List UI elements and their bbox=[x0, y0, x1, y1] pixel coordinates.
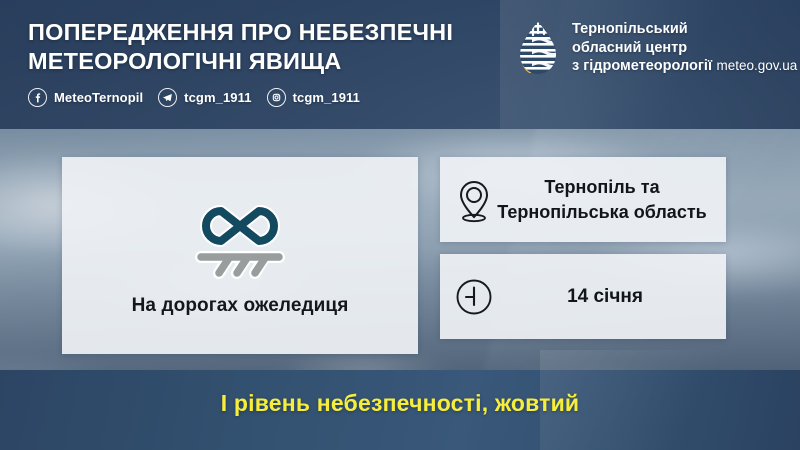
telegram-icon bbox=[158, 88, 177, 107]
date-card: 14 січня bbox=[440, 254, 726, 339]
brand-website: meteo.gov.ua bbox=[716, 58, 797, 73]
social-handle-facebook: MeteoTernopil bbox=[54, 90, 143, 105]
hazard-label: На дорогах ожеледиця bbox=[132, 295, 349, 317]
location-card: Тернопіль та Тернопільська область bbox=[440, 157, 726, 242]
social-link-instagram[interactable]: tcgm_1911 bbox=[267, 88, 360, 107]
header-left-group: ПОПЕРЕДЖЕННЯ ПРО НЕБЕЗПЕЧНІ МЕТЕОРОЛОГІЧ… bbox=[28, 18, 453, 107]
social-links: MeteoTernopil tcgm_1911 bbox=[28, 88, 453, 107]
social-link-telegram[interactable]: tcgm_1911 bbox=[158, 88, 251, 107]
brand-text-group: Тернопільський обласний центр з гідромет… bbox=[572, 19, 797, 76]
social-link-facebook[interactable]: MeteoTernopil bbox=[28, 88, 143, 107]
page-title: ПОПЕРЕДЖЕННЯ ПРО НЕБЕЗПЕЧНІ МЕТЕОРОЛОГІЧ… bbox=[28, 18, 453, 76]
weather-warning-poster: ПОПЕРЕДЖЕННЯ ПРО НЕБЕЗПЕЧНІ МЕТЕОРОЛОГІЧ… bbox=[0, 0, 800, 450]
date-text: 14 січня bbox=[494, 284, 716, 309]
hydrometeorology-droplet-logo bbox=[508, 19, 560, 81]
danger-level-text: I рівень небезпечності, жовтий bbox=[0, 390, 800, 417]
location-text: Тернопіль та Тернопільська область bbox=[488, 175, 716, 225]
social-handle-instagram: tcgm_1911 bbox=[293, 90, 360, 105]
facebook-icon bbox=[28, 88, 47, 107]
black-ice-road-icon bbox=[177, 195, 303, 281]
brand-block: Тернопільський обласний центр з гідромет… bbox=[508, 19, 797, 81]
social-handle-telegram: tcgm_1911 bbox=[184, 90, 251, 105]
instagram-icon bbox=[267, 88, 286, 107]
hazard-card: На дорогах ожеледиця bbox=[62, 157, 418, 354]
clock-icon bbox=[454, 277, 494, 317]
brand-name: Тернопільський обласний центр з гідромет… bbox=[572, 21, 712, 74]
